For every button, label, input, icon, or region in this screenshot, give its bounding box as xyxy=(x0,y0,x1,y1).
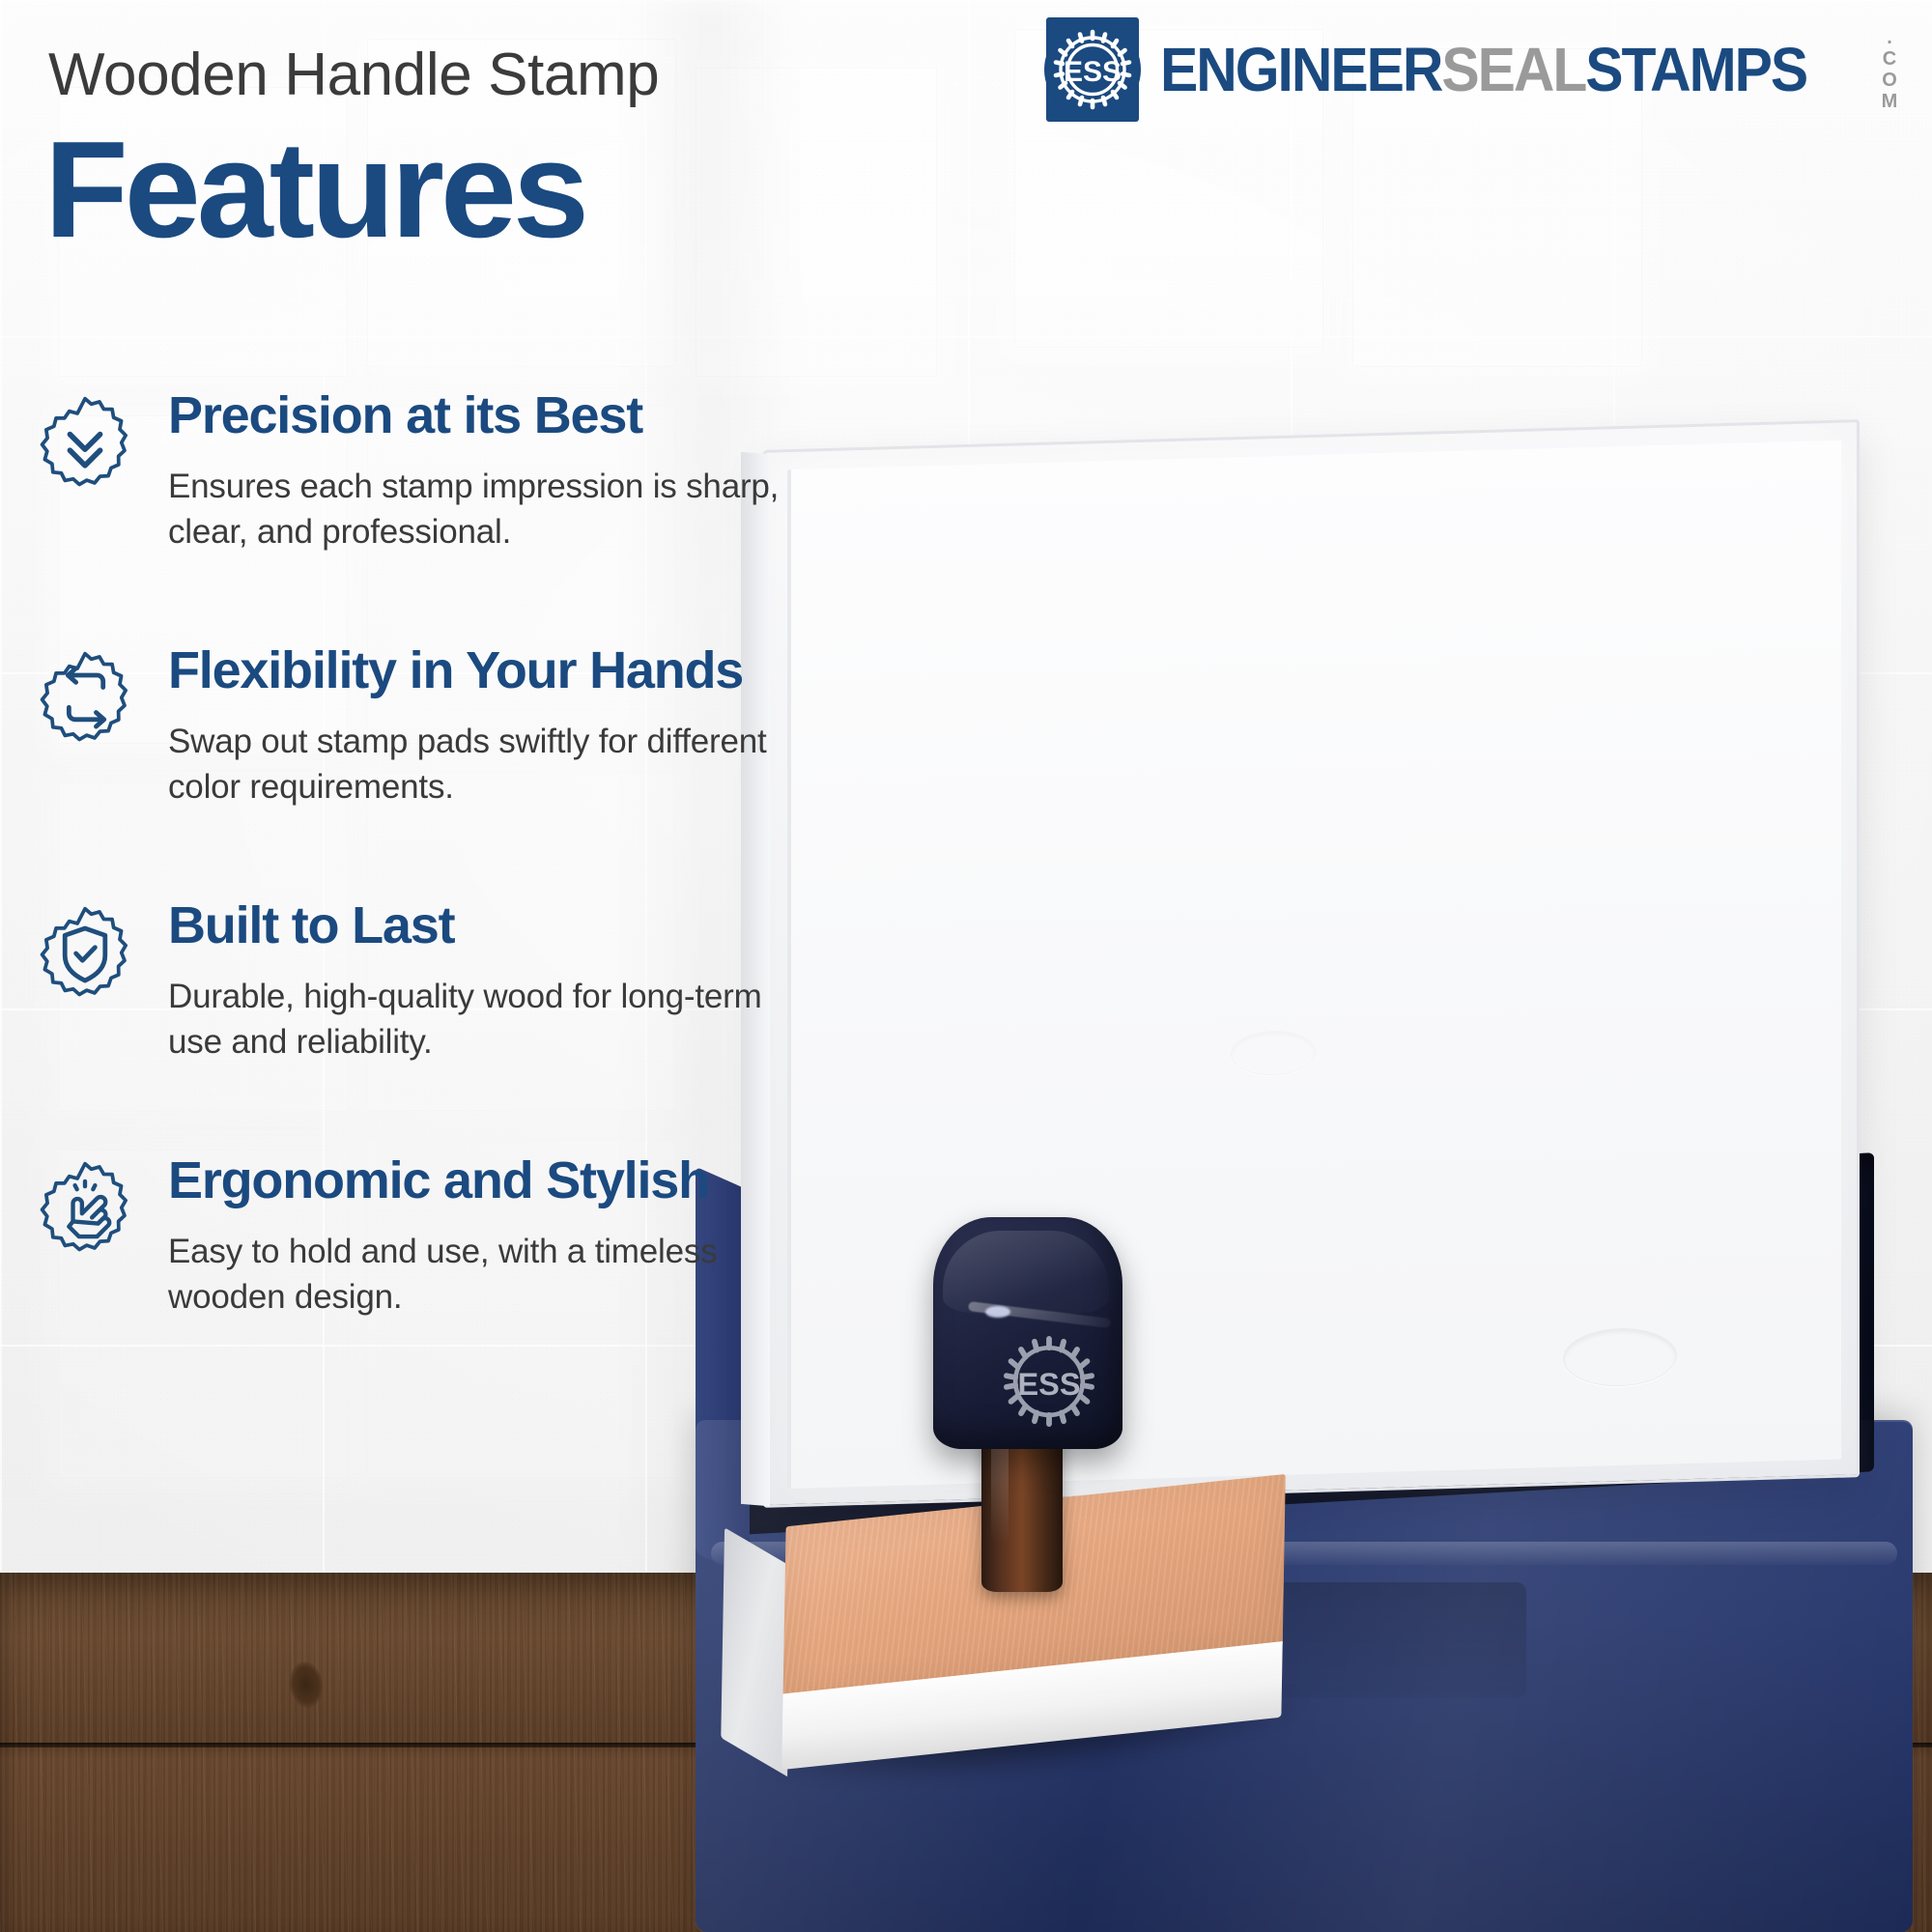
feature-description: Easy to hold and use, with a timeless wo… xyxy=(168,1230,806,1321)
ess-badge-icon: ESS xyxy=(1038,17,1147,122)
badge-shield-check-icon xyxy=(35,904,135,1005)
feature-title: Precision at its Best xyxy=(168,388,883,443)
feature-title: Ergonomic and Stylish xyxy=(168,1153,883,1208)
feature-description: Ensures each stamp impression is sharp, … xyxy=(168,465,806,555)
stamp-handle-knob: ESS xyxy=(933,1217,1122,1449)
wordmark-engineer: ENGINEER xyxy=(1160,39,1441,100)
brand-wordmark: ENGINEER SEAL STAMPS xyxy=(1160,39,1806,100)
wordmark-tld: .COM xyxy=(1881,27,1897,112)
content-column: Wooden Handle Stamp Features Precision a… xyxy=(0,0,927,1584)
wordmark-seal: SEAL xyxy=(1442,39,1586,100)
ess-monogram-text: ESS xyxy=(1018,1367,1081,1402)
feature-title: Flexibility in Your Hands xyxy=(168,643,883,698)
feature-item: Built to Last Durable, high-quality wood… xyxy=(33,898,883,1132)
page-kicker: Wooden Handle Stamp xyxy=(48,44,659,106)
knob-specular-glint xyxy=(985,1306,1010,1318)
ess-gear-icon: ESS xyxy=(993,1325,1105,1437)
feature-item: Precision at its Best Ensures each stamp… xyxy=(33,388,883,622)
feature-item: Flexibility in Your Hands Swap out stamp… xyxy=(33,643,883,877)
page-title: Features xyxy=(44,122,585,259)
badge-double-chevron-down-icon xyxy=(35,394,135,495)
knob-top-facet xyxy=(943,1231,1109,1314)
badge-pointing-hand-icon xyxy=(35,1159,135,1260)
feature-title: Built to Last xyxy=(168,898,883,953)
badge-swap-arrows-icon xyxy=(35,649,135,750)
brand-logo[interactable]: ESS ENGINEER SEAL STAMPS .COM xyxy=(1038,17,1897,122)
feature-list: Precision at its Best Ensures each stamp… xyxy=(33,367,883,1387)
infographic-canvas: ESS xyxy=(0,0,1932,1932)
wordmark-stamps: STAMPS xyxy=(1586,39,1807,100)
presentation-box-lid xyxy=(763,419,1860,1508)
feature-description: Swap out stamp pads swiftly for differen… xyxy=(168,720,806,810)
feature-description: Durable, high-quality wood for long-term… xyxy=(168,975,806,1065)
logo-monogram-text: ESS xyxy=(1064,56,1122,88)
feature-item: Ergonomic and Stylish Easy to hold and u… xyxy=(33,1153,883,1387)
